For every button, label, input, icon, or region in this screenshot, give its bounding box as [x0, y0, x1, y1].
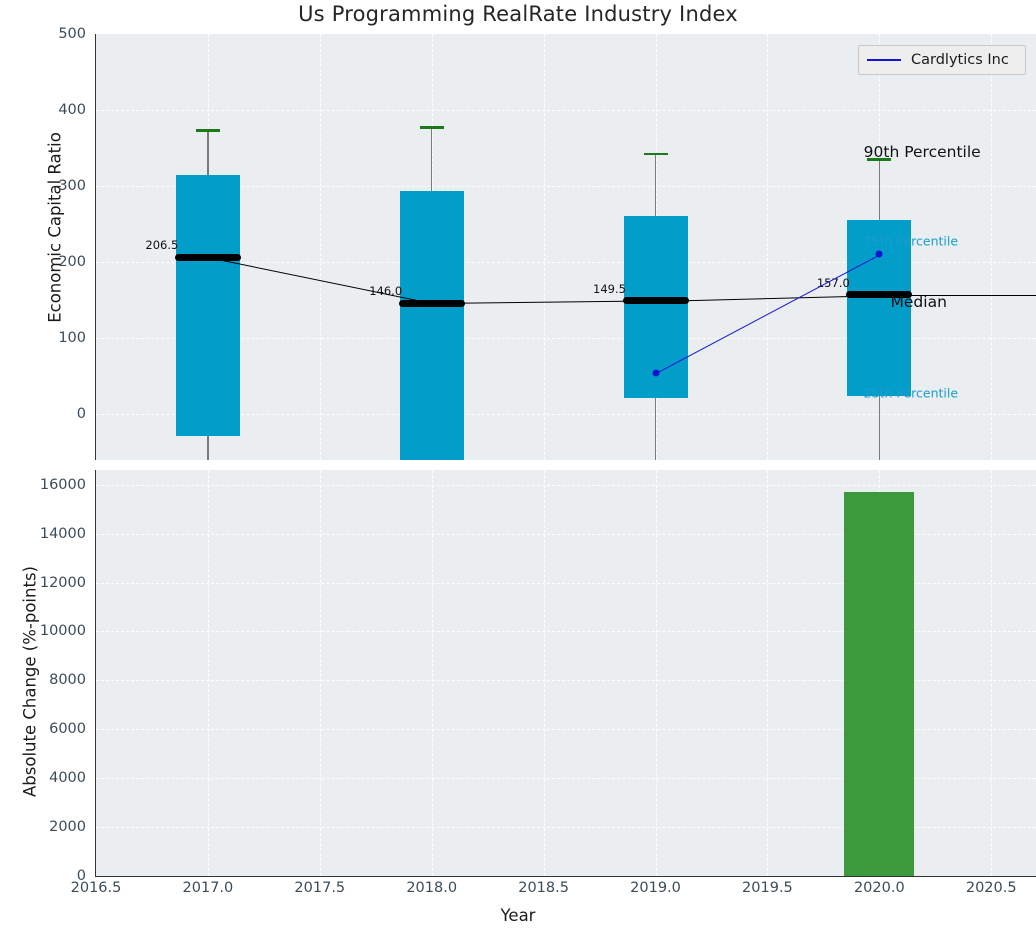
absolute-change-bar [844, 492, 914, 876]
x-tick-label: 2017.0 [183, 880, 234, 896]
y-tick-label: 400 [58, 102, 86, 118]
percentile-annotation: 90th Percentile [864, 143, 981, 161]
y-tick-label: 2000 [49, 819, 86, 835]
percentile-annotation: 25th Percentile [864, 386, 958, 401]
median-value-label: 149.5 [593, 282, 626, 296]
gridline-vertical [767, 470, 768, 876]
x-tick-label: 2019.0 [630, 880, 681, 896]
gridline-vertical [544, 470, 545, 876]
y-tick-label: 200 [58, 254, 86, 270]
y-tick-label: 16000 [40, 477, 86, 493]
y-tick-label: 500 [58, 26, 86, 42]
x-tick-label: 2018.0 [406, 880, 457, 896]
y-tick-label: 12000 [40, 575, 86, 591]
y-tick-label: 0 [77, 406, 86, 422]
median-value-label: 206.5 [145, 238, 178, 252]
gridline-vertical [991, 470, 992, 876]
gridline [96, 110, 1036, 111]
y-axis-top [95, 34, 96, 460]
whisker-cap-90th [196, 129, 220, 132]
y-tick-label: 8000 [49, 672, 86, 688]
y-tick-label: 4000 [49, 770, 86, 786]
gridline-vertical [767, 34, 768, 460]
x-axis-label: Year [0, 906, 1036, 925]
gridline-vertical [432, 470, 433, 876]
gridline [96, 485, 1036, 486]
y-axis-bottom [95, 470, 96, 876]
percentile-annotation: Median [891, 293, 947, 311]
x-tick-label: 2020.0 [854, 880, 905, 896]
gridline-vertical [656, 470, 657, 876]
legend-line-icon [867, 59, 901, 61]
chart-root: Us Programming RealRate Industry Index E… [0, 0, 1036, 942]
x-tick-label: 2019.5 [742, 880, 793, 896]
box-iqr [400, 191, 464, 460]
y-tick-label: 100 [58, 330, 86, 346]
y-axis-label-bottom: Absolute Change (%-points) [21, 532, 40, 832]
y-tick-label: 6000 [49, 721, 86, 737]
whisker-cap-90th [644, 153, 668, 156]
whisker-cap-90th [420, 126, 444, 129]
gridline-vertical [208, 470, 209, 876]
y-tick-label: 10000 [40, 623, 86, 639]
y-tick-label: 300 [58, 178, 86, 194]
chart-title: Us Programming RealRate Industry Index [0, 2, 1036, 26]
company-data-point [876, 250, 883, 257]
company-data-point [652, 369, 659, 376]
legend-label: Cardlytics Inc [911, 52, 1009, 68]
percentile-annotation: 75th Percentile [864, 233, 958, 248]
x-tick-label: 2020.5 [966, 880, 1017, 896]
gridline-vertical [544, 34, 545, 460]
gridline-vertical [320, 470, 321, 876]
x-tick-label: 2017.5 [294, 880, 345, 896]
x-tick-label: 2016.5 [71, 880, 122, 896]
gridline-vertical [991, 34, 992, 460]
gridline-vertical [320, 34, 321, 460]
x-tick-label: 2018.5 [518, 880, 569, 896]
x-axis [95, 876, 1036, 877]
y-tick-label: 14000 [40, 526, 86, 542]
box-iqr [176, 175, 240, 436]
legend[interactable]: Cardlytics Inc [858, 45, 1026, 75]
